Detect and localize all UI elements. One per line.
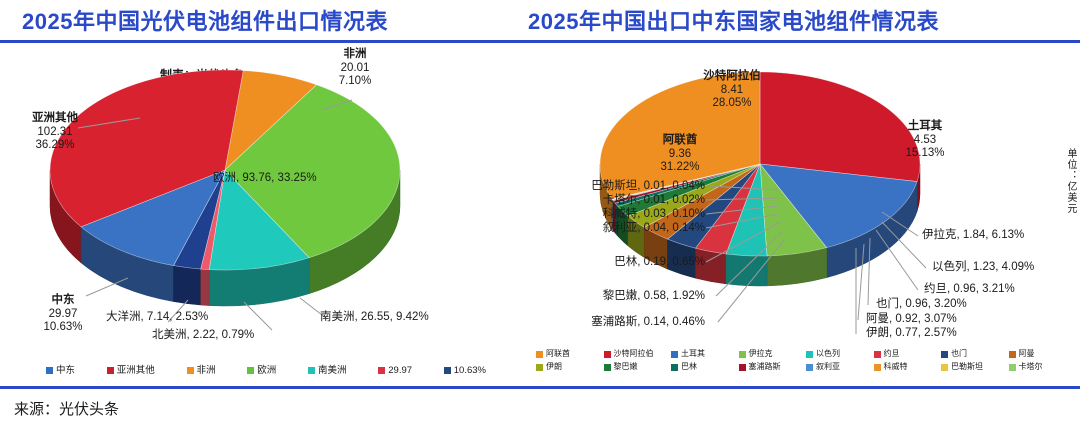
legend-right-item[interactable]: 沙特阿拉伯 [604,350,672,358]
legend-label: 叙利亚 [816,363,840,371]
legend-label: 黎巴嫩 [614,363,638,371]
legend-right-item[interactable]: 约旦 [874,350,942,358]
label-mideast: 中东 29.97 10.63% [22,294,104,335]
legend-left-item[interactable]: 10.63% [444,366,486,376]
legend-left-item[interactable]: 29.97 [378,366,412,376]
legend-right-item[interactable]: 巴林 [671,363,739,371]
legend-right-item[interactable]: 塞浦路斯 [739,363,807,371]
legend-label: 巴勒斯坦 [951,363,983,371]
label-israel: 以色列, 1.23, 4.09% [932,261,1034,275]
legend-right-item[interactable]: 黎巴嫩 [604,363,672,371]
unit-label-vertical: 单位：亿美元 [1063,148,1078,214]
label-saudi-value: 8.41 [672,84,792,98]
legend-right-item[interactable]: 卡塔尔 [1009,363,1077,371]
label-oceania: 大洋洲, 7.14, 2.53% [106,311,208,325]
legend-right-item[interactable]: 叙利亚 [806,363,874,371]
legend-label: 塞浦路斯 [749,363,781,371]
legend-swatch-icon [1009,351,1016,358]
legend-right-item[interactable]: 土耳其 [671,350,739,358]
legend-swatch-icon [739,351,746,358]
legend-swatch-icon [1009,364,1016,371]
label-europe: 欧洲, 93.76, 33.25% [213,172,317,186]
legend-swatch-icon [46,367,53,374]
label-africa-value: 20.01 [310,62,400,76]
label-lebanon: 黎巴嫩, 0.58, 1.92% [460,290,705,304]
legend-label: 约旦 [884,350,900,358]
label-palestine: 巴勒斯坦, 0.01, 0.04% [460,180,705,194]
label-africa-percent: 7.10% [310,75,400,89]
label-turkey-percent: 15.13% [880,147,970,161]
legend-swatch-icon [308,367,315,374]
label-uae: 阿联酋 9.36 31.22% [630,134,730,175]
legend-swatch-icon [874,364,881,371]
legend-label: 南美洲 [318,366,347,376]
label-qatar: 卡塔尔, 0.01, 0.02% [460,194,705,208]
legend-swatch-icon [874,351,881,358]
legend-right-item[interactable]: 阿曼 [1009,350,1077,358]
label-cyprus: 塞浦路斯, 0.14, 0.46% [460,316,705,330]
label-uae-value: 9.36 [630,148,730,162]
label-uae-percent: 31.22% [630,161,730,175]
legend-swatch-icon [941,351,948,358]
label-syria: 叙利亚, 0.04, 0.14% [460,222,705,236]
legend-label: 以色列 [816,350,840,358]
legend-swatch-icon [247,367,254,374]
legend-swatch-icon [604,351,611,358]
legend-label: 29.97 [388,366,412,376]
label-yemen: 也门, 0.96, 3.20% [876,298,967,312]
label-kuwait: 科威特, 0.03, 0.10% [460,208,705,222]
legend-swatch-icon [671,364,678,371]
legend-right-item[interactable]: 伊拉克 [739,350,807,358]
label-south-america: 南美洲, 26.55, 9.42% [320,311,429,325]
pie-chart-left [40,60,460,320]
legend-right: 阿联酋沙特阿拉伯土耳其伊拉克以色列约旦也门阿曼伊朗黎巴嫩巴林塞浦路斯叙利亚科威特… [536,350,1076,376]
legend-swatch-icon [536,364,543,371]
legend-label: 伊拉克 [749,350,773,358]
legend-label: 卡塔尔 [1019,363,1043,371]
legend-left-item[interactable]: 欧洲 [247,366,276,376]
label-asia-other: 亚洲其他 102.31 36.29% [0,112,110,153]
label-saudi: 沙特阿拉伯 8.41 28.05% [672,70,792,111]
page-title-left: 2025年中国光伏电池组件出口情况表 [22,4,388,36]
legend-right-item[interactable]: 科威特 [874,363,942,371]
label-turkey-value: 4.53 [880,134,970,148]
legend-swatch-icon [739,364,746,371]
legend-swatch-icon [444,367,451,374]
source-credit: 来源：光伏头条 [14,398,119,419]
label-jordan: 约旦, 0.96, 3.21% [924,283,1015,297]
label-mideast-name: 中东 [22,294,104,308]
legend-right-item[interactable]: 伊朗 [536,363,604,371]
legend-right-item[interactable]: 以色列 [806,350,874,358]
label-mideast-percent: 10.63% [22,321,104,335]
legend-swatch-icon [806,364,813,371]
infographic-root: 2025年中国光伏电池组件出口情况表 2025年中国出口中东国家电池组件情况表 … [0,0,1080,425]
legend-swatch-icon [806,351,813,358]
legend-right-item[interactable]: 也门 [941,350,1009,358]
label-uae-name: 阿联酋 [630,134,730,148]
label-saudi-percent: 28.05% [672,97,792,111]
legend-left-item[interactable]: 南美洲 [308,366,347,376]
label-bahrain: 巴林, 0.19, 0.65% [460,256,705,270]
legend-label: 非洲 [197,366,216,376]
legend-label: 伊朗 [546,363,562,371]
label-oman: 阿曼, 0.92, 3.07% [866,313,957,327]
legend-left-item[interactable]: 中东 [46,366,75,376]
label-turkey-name: 土耳其 [880,120,970,134]
legend-label: 欧洲 [257,366,276,376]
label-asia-other-value: 102.31 [0,126,110,140]
legend-label: 土耳其 [681,350,705,358]
label-north-america: 北美洲, 2.22, 0.79% [152,329,254,343]
legend-label: 科威特 [884,363,908,371]
label-asia-other-name: 亚洲其他 [0,112,110,126]
legend-label: 亚洲其他 [117,366,155,376]
label-africa: 非洲 20.01 7.10% [310,48,400,89]
legend-label: 10.63% [454,366,486,376]
label-asia-other-percent: 36.29% [0,139,110,153]
legend-swatch-icon [604,364,611,371]
legend-left-item[interactable]: 亚洲其他 [107,366,155,376]
legend-label: 沙特阿拉伯 [614,350,654,358]
legend-left-item[interactable]: 非洲 [187,366,216,376]
legend-swatch-icon [671,351,678,358]
label-iraq: 伊拉克, 1.84, 6.13% [922,229,1024,243]
legend-right-item[interactable]: 阿联酋 [536,350,604,358]
legend-swatch-icon [536,351,543,358]
legend-label: 阿曼 [1019,350,1035,358]
legend-label: 中东 [56,366,75,376]
legend-right-item[interactable]: 巴勒斯坦 [941,363,1009,371]
legend-label: 巴林 [681,363,697,371]
label-iran: 伊朗, 0.77, 2.57% [866,327,957,341]
footer-divider [0,386,1080,389]
legend-swatch-icon [941,364,948,371]
legend-label: 也门 [951,350,967,358]
legend-swatch-icon [378,367,385,374]
legend-swatch-icon [107,367,114,374]
legend-label: 阿联酋 [546,350,570,358]
label-mideast-value: 29.97 [22,308,104,322]
page-title-right: 2025年中国出口中东国家电池组件情况表 [528,4,939,36]
label-africa-name: 非洲 [310,48,400,62]
legend-left: 中东亚洲其他非洲欧洲南美洲29.9710.63% [46,366,486,376]
header-divider [0,40,1080,43]
label-saudi-name: 沙特阿拉伯 [672,70,792,84]
legend-swatch-icon [187,367,194,374]
label-turkey: 土耳其 4.53 15.13% [880,120,970,161]
